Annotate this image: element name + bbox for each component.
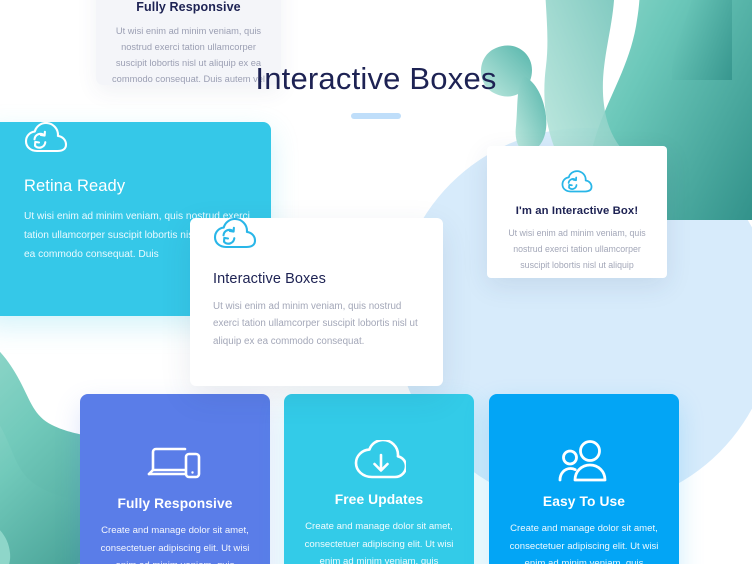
cloud-sync-icon <box>213 237 257 254</box>
card-free-updates[interactable]: Free Updates Create and manage dolor sit… <box>284 394 474 564</box>
card-interactive-boxes[interactable]: Interactive Boxes Ut wisi enim ad minim … <box>190 218 443 386</box>
card-title: Free Updates <box>284 492 474 507</box>
section-header: Interactive Boxes <box>0 60 752 119</box>
cloud-download-icon <box>284 440 474 480</box>
card-title: Interactive Boxes <box>213 271 443 287</box>
card-title: Easy To Use <box>489 494 679 509</box>
card-title: Fully Responsive <box>96 0 281 14</box>
cloud-sync-icon <box>487 170 667 194</box>
card-body-text: Ut wisi enim ad minim veniam, quis nostr… <box>501 225 653 273</box>
page-canvas: Fully Responsive Ut wisi enim ad minim v… <box>0 0 752 564</box>
card-title: Fully Responsive <box>80 496 270 511</box>
card-body-text: Create and manage dolor sit amet, consec… <box>97 522 253 564</box>
card-bottom-fully-responsive[interactable]: Fully Responsive Create and manage dolor… <box>80 394 270 564</box>
cloud-sync-icon <box>24 141 68 158</box>
card-im-an-interactive-box[interactable]: I'm an Interactive Box! Ut wisi enim ad … <box>487 146 667 278</box>
devices-icon <box>80 440 270 484</box>
card-body-text: Create and manage dolor sit amet, consec… <box>506 520 662 564</box>
card-title: Retina Ready <box>24 177 271 196</box>
card-body-text: Create and manage dolor sit amet, consec… <box>301 518 457 564</box>
users-icon <box>489 440 679 482</box>
card-body-text: Ut wisi enim ad minim veniam, quis nostr… <box>213 298 418 350</box>
title-divider-bar <box>351 113 401 119</box>
card-easy-to-use[interactable]: Easy To Use Create and manage dolor sit … <box>489 394 679 564</box>
card-title: I'm an Interactive Box! <box>487 205 667 217</box>
page-title: Interactive Boxes <box>0 60 752 97</box>
